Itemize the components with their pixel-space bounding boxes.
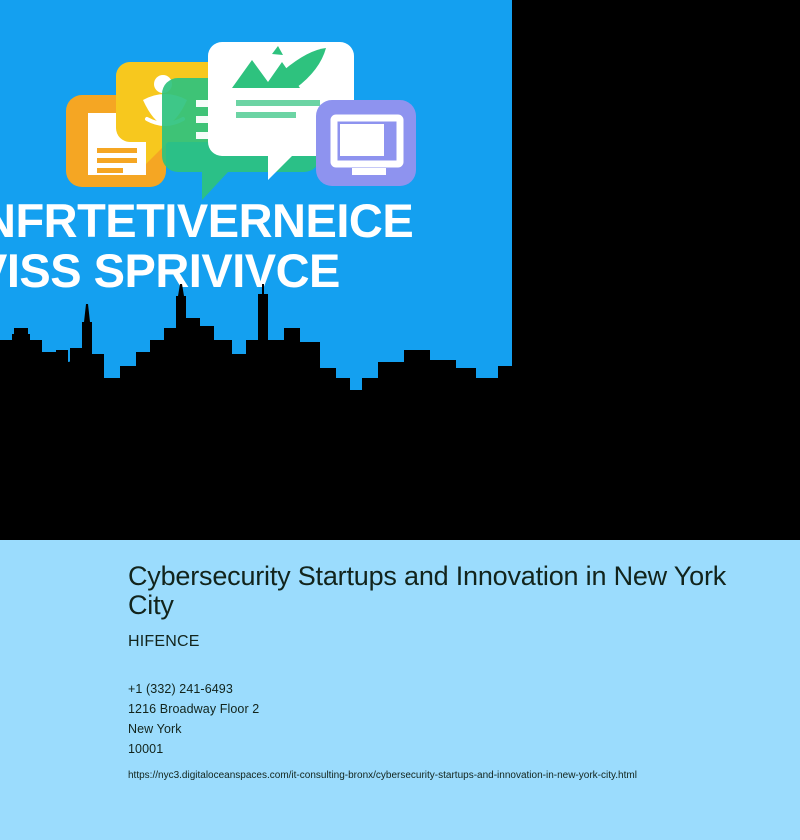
graphic-headline: NFRTETIVERNEICE VISS SPRIVIVCE <box>0 196 512 296</box>
hero-region: NFRTETIVERNEICE VISS SPRIVIVCE <box>0 0 800 540</box>
monitor-icon <box>316 100 416 186</box>
info-panel: Cybersecurity Startups and Innovation in… <box>0 540 800 840</box>
contact-phone: +1 (332) 241-6493 <box>128 679 768 699</box>
page-title: Cybersecurity Startups and Innovation in… <box>128 562 728 620</box>
contact-city: New York <box>128 719 768 739</box>
icon-cluster <box>0 0 512 205</box>
graphic-headline-line-1: NFRTETIVERNEICE <box>0 196 512 246</box>
contact-block: +1 (332) 241-6493 1216 Broadway Floor 2 … <box>128 679 768 759</box>
contact-street: 1216 Broadway Floor 2 <box>128 699 768 719</box>
info-inner: Cybersecurity Startups and Innovation in… <box>128 562 768 783</box>
brand-name: HIFENCE <box>128 632 768 651</box>
hero-graphic: NFRTETIVERNEICE VISS SPRIVIVCE <box>0 0 512 512</box>
contact-zip: 10001 <box>128 739 768 759</box>
source-url[interactable]: https://nyc3.digitaloceanspaces.com/it-c… <box>128 769 768 783</box>
page-root: NFRTETIVERNEICE VISS SPRIVIVCE Cybersecu… <box>0 0 800 840</box>
skyline-silhouette <box>0 282 512 512</box>
